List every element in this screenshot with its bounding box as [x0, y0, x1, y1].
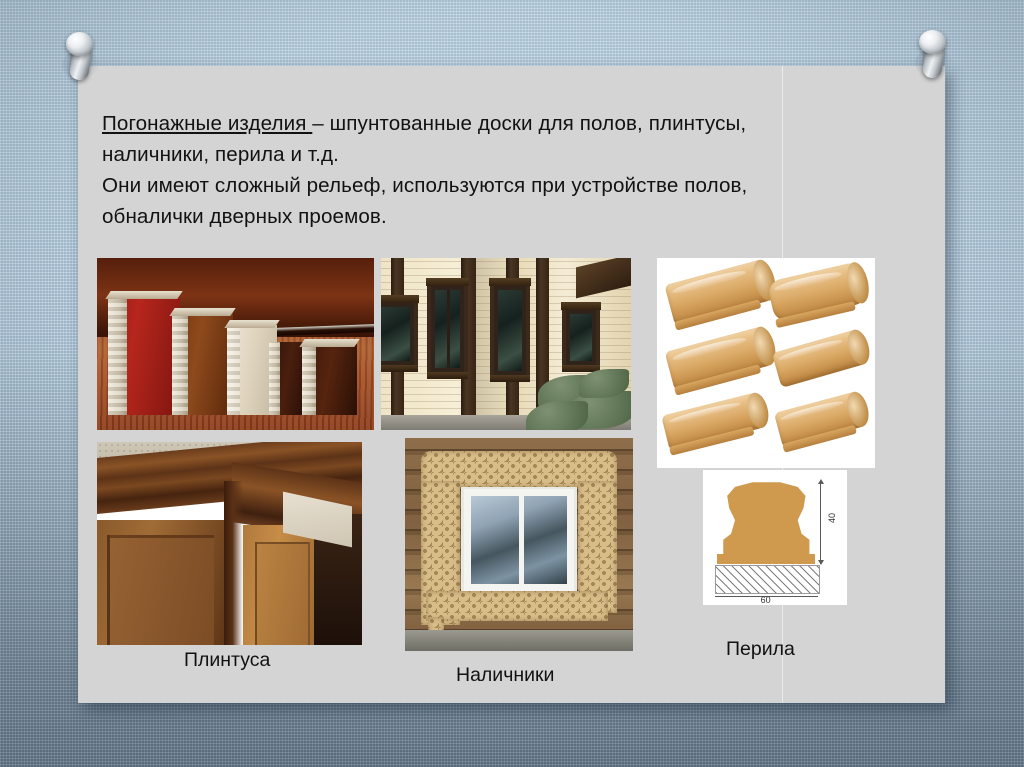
- plinth-sample-walnut: [302, 344, 357, 415]
- plinth-profile-ridges: [108, 296, 127, 415]
- caption-plinth: Плинтуса: [184, 649, 270, 672]
- body-line-1: Погонажные изделия – шпунтованные доски …: [102, 108, 922, 139]
- body-line-4: обналички дверных проемов.: [102, 201, 922, 232]
- window-lintel: [426, 278, 469, 286]
- cabinet-panel-left: [97, 520, 224, 645]
- corner-column: [224, 481, 243, 645]
- caption-perila: Перила: [726, 638, 795, 661]
- window-lintel: [489, 278, 532, 286]
- cabinet-panel-right: [243, 525, 317, 645]
- dimension-height-label: 40: [827, 513, 837, 523]
- dimension-line-vertical: [820, 481, 821, 565]
- window-glass: [570, 314, 592, 361]
- body-line-2: наличники, перила и т.д.: [102, 139, 922, 170]
- pushpin-right[interactable]: [913, 28, 955, 84]
- image-plinth-samples[interactable]: [97, 258, 374, 430]
- pushpin-left[interactable]: [60, 30, 102, 86]
- caption-nalichniki: Наличники: [456, 664, 554, 687]
- pin-head: [919, 30, 946, 54]
- ground: [405, 630, 633, 651]
- pin-head: [66, 32, 93, 56]
- window-mullion: [447, 290, 450, 368]
- panel-inset: [107, 535, 214, 645]
- image-carved-window-frame[interactable]: [405, 438, 633, 651]
- plinth-profile-ridges: [302, 344, 316, 415]
- image-handrail-samples[interactable]: [657, 258, 875, 468]
- plinth-top: [224, 320, 279, 328]
- body-line-3: Они имеют сложный рельеф, используются п…: [102, 170, 922, 201]
- foliage: [526, 361, 631, 430]
- image-crown-molding[interactable]: [97, 442, 362, 645]
- window-center-left: [431, 286, 464, 372]
- window-sill: [381, 365, 418, 372]
- carved-apron: [426, 591, 608, 621]
- leaf: [526, 401, 588, 430]
- dimension-arrow-bottom-icon: [818, 560, 824, 565]
- plinth-profile-ridges: [227, 325, 240, 414]
- window-mullion: [519, 496, 524, 584]
- plinth-top: [105, 291, 182, 299]
- dimension-width-label: 60: [761, 595, 771, 605]
- window-sill: [490, 375, 531, 382]
- section-hatching: [715, 565, 821, 594]
- window-lintel: [381, 295, 419, 303]
- plinth-sample-medium-oak: [172, 313, 233, 414]
- plinth-top: [299, 339, 360, 347]
- plinth-top: [169, 308, 235, 316]
- window-sill: [427, 372, 468, 379]
- window-left: [381, 303, 414, 365]
- handrail-profile-base: [717, 554, 815, 565]
- white-window: [464, 489, 573, 591]
- panel-inset: [255, 542, 310, 645]
- window-right: [566, 310, 596, 365]
- window-glass: [381, 307, 410, 361]
- presentation-slide[interactable]: Погонажные изделия – шпунтованные доски …: [78, 66, 945, 703]
- body-line-1-rest: – шпунтованные доски для полов, плинтусы…: [312, 112, 746, 135]
- window-lintel: [561, 302, 601, 310]
- image-handrail-tech-drawing[interactable]: 40 60: [703, 470, 847, 605]
- slide-body-text: Погонажные изделия – шпунтованные доски …: [102, 108, 922, 232]
- plinth-profile-ridges: [172, 313, 188, 414]
- term-pogonazhnye-izdeliya: Погонажные изделия: [102, 112, 312, 135]
- cabinet-assembly: [97, 458, 362, 645]
- window-center-right: [494, 286, 527, 375]
- image-house-window-trim[interactable]: [381, 258, 631, 430]
- plinth-profile-ridges: [269, 342, 280, 414]
- window-glass: [498, 290, 523, 371]
- dimension-arrow-top-icon: [818, 479, 824, 484]
